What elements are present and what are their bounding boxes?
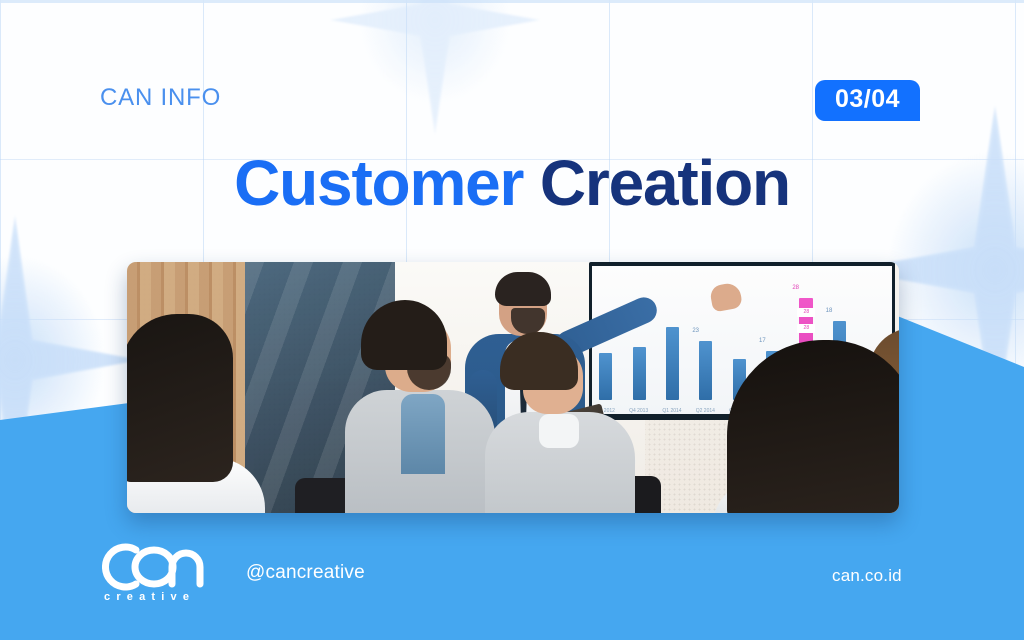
- can-logo-mark: [102, 540, 206, 594]
- meeting-photo: Q3 2012Q4 2013Q1 201423Q2 2014Q3 201417Q…: [127, 262, 899, 513]
- chart-bar-value: 18: [826, 308, 833, 314]
- chart-bar: Q3 2012: [599, 353, 612, 400]
- page-number-badge: 03/04: [815, 80, 920, 121]
- page-title: Customer Creation: [0, 150, 1024, 217]
- chart-x-tick: Q1 2014: [657, 408, 687, 414]
- chart-bar-value: 17: [759, 338, 766, 344]
- chart-bar: Q1 2014: [666, 327, 679, 400]
- chart-callout-lower: 28: [797, 324, 815, 333]
- chart-callout-upper: 28: [797, 308, 815, 317]
- attendee-left-hair: [127, 314, 233, 482]
- social-handle: @cancreative: [246, 562, 365, 584]
- chart-bar: 23Q2 2014: [699, 341, 712, 400]
- grid-top-edge: [0, 0, 1024, 3]
- attendee-blue-shirt: [401, 394, 445, 474]
- presenter-hair: [495, 272, 551, 306]
- photo-card: Q3 2012Q4 2013Q1 201423Q2 2014Q3 201417Q…: [127, 262, 899, 513]
- chart-x-tick: Q2 2014: [690, 408, 720, 414]
- page-title-part2: Creation: [540, 147, 790, 219]
- chart-bar-value: 23: [692, 328, 699, 334]
- chart-x-tick: Q4 2013: [624, 408, 654, 414]
- page-title-part1: Customer: [234, 147, 523, 219]
- chart-bar: Q4 2013: [633, 347, 646, 400]
- slide-canvas: CAN INFO 03/04 Customer Creation Q3 2012…: [0, 0, 1024, 640]
- chart-bar-value: 28: [792, 285, 799, 291]
- kicker-label: CAN INFO: [100, 84, 221, 112]
- website-url: can.co.id: [832, 566, 902, 586]
- can-logo-subtext: creative: [104, 591, 195, 603]
- sparkle-decoration-top: [330, 0, 540, 135]
- attendee-hoodie-collar: [539, 414, 579, 448]
